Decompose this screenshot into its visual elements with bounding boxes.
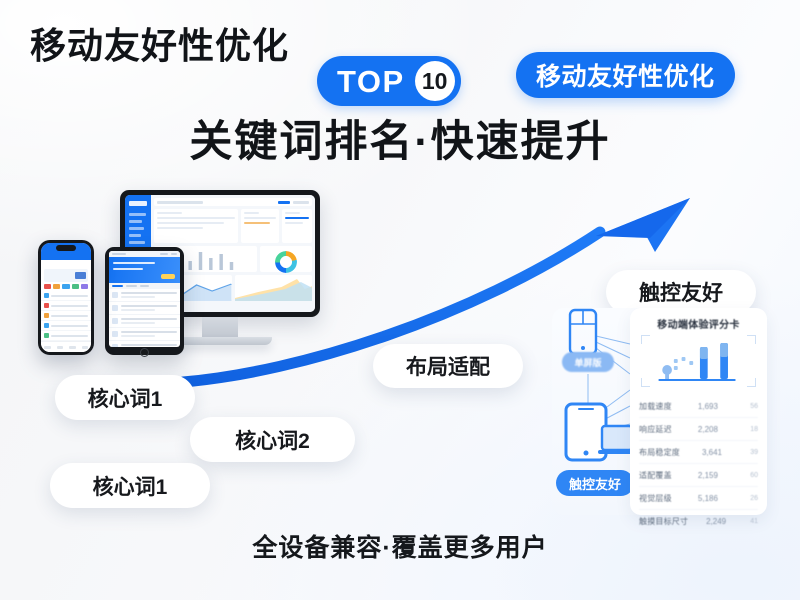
dashboard-nav-item	[129, 241, 145, 244]
table-row: 响应延迟 2,208 18	[639, 418, 758, 441]
dashboard-nav-item	[129, 234, 141, 237]
score-row-value: 1,693	[698, 402, 718, 411]
table-row: 视觉层级 5,186 26	[639, 487, 758, 510]
list-item	[109, 341, 180, 347]
tablet-screen	[109, 251, 180, 347]
phone-promo-card	[44, 269, 88, 282]
score-row-name: 视觉层级	[639, 493, 672, 504]
dashboard-donut-chart	[260, 246, 312, 272]
tablet-home-button[interactable]	[140, 348, 149, 357]
dashboard-nav-item	[129, 227, 144, 230]
list-item	[41, 291, 91, 301]
score-card-chart	[641, 335, 756, 387]
dashboard-breadcrumb	[157, 201, 203, 204]
tablet-hero-cta	[161, 274, 175, 279]
dashboard-card	[154, 209, 238, 243]
list-item	[109, 315, 180, 328]
score-row-list: 加载速度 1,693 56 响应延迟 2,208 18 布局稳定度 3,641 …	[639, 395, 758, 532]
diagram-label-split-screen: 单屏版	[562, 352, 614, 372]
chart-corner-mark	[747, 378, 756, 387]
footer-tagline: 全设备兼容·覆盖更多用户	[0, 528, 800, 564]
area-chart-svg	[235, 275, 313, 301]
search-input[interactable]	[44, 261, 88, 267]
score-row-name: 布局稳定度	[639, 447, 680, 458]
phone-screen	[41, 243, 91, 352]
monitor-neck	[202, 317, 238, 337]
small-phone-icon	[570, 310, 596, 354]
dashboard-logo	[129, 201, 147, 206]
dashboard-nav-item	[129, 220, 142, 223]
tablet-hero-banner	[109, 257, 180, 283]
list-item	[109, 302, 180, 315]
feature-pill-layout: 布局适配	[373, 344, 523, 388]
table-row: 加载速度 1,693 56	[639, 395, 758, 418]
score-row-name: 触摸目标尺寸	[639, 516, 688, 527]
table-row: 适配覆盖 2,159 60	[639, 464, 758, 487]
dashboard-topbar-action	[278, 201, 290, 204]
keyword-pill-2: 核心词2	[190, 417, 355, 462]
dashboard-card	[241, 209, 279, 243]
device-mockups	[20, 185, 320, 385]
score-row-value: 3,641	[702, 448, 722, 457]
keyword-pill-3: 核心词1	[50, 463, 210, 508]
score-row-delta: 26	[744, 495, 758, 502]
score-row-delta: 39	[744, 449, 758, 456]
score-row-name: 加载速度	[639, 401, 672, 412]
dashboard-card-row	[154, 209, 312, 243]
dashboard-area-chart	[235, 275, 313, 301]
score-row-value: 2,159	[698, 471, 718, 480]
score-row-name: 适配覆盖	[639, 470, 672, 481]
phone-mockup	[38, 240, 94, 355]
dashboard-nav-item	[129, 213, 146, 216]
phone-tabbar[interactable]	[41, 341, 91, 352]
score-row-value: 5,186	[698, 494, 718, 503]
score-row-delta: 56	[744, 403, 758, 410]
phone-quick-icons	[41, 282, 91, 291]
poster-canvas: 移动友好性优化 TOP 10 移动友好性优化 关键词排名·快速提升	[0, 0, 800, 600]
score-row-delta: 41	[744, 518, 758, 525]
phone-notch	[56, 245, 76, 251]
score-row-delta: 18	[744, 426, 758, 433]
chart-corner-mark	[641, 335, 650, 344]
score-row-value: 2,208	[698, 425, 718, 434]
score-card-title: 移动端体验评分卡	[639, 316, 758, 331]
donut-chart	[275, 251, 297, 273]
mobile-experience-panel: 单屏版 触控友好 移动端体验评分卡	[552, 300, 767, 515]
list-item	[109, 289, 180, 302]
tablet-bezel	[105, 247, 184, 355]
score-row-delta: 60	[744, 472, 758, 479]
tablet-mockup	[105, 247, 184, 355]
promo-thumbnail	[75, 272, 86, 279]
score-bar-chart	[641, 335, 756, 387]
chart-corner-mark	[641, 378, 650, 387]
list-item	[41, 301, 91, 311]
chart-corner-mark	[747, 335, 756, 344]
score-row-name: 响应延迟	[639, 424, 672, 435]
dashboard-topbar-action	[293, 201, 309, 204]
list-item	[41, 321, 91, 331]
mobile-score-card: 移动端体验评分卡	[630, 308, 767, 515]
diagram-label-touch-friendly: 触控友好	[556, 470, 634, 496]
list-item	[41, 311, 91, 321]
table-row: 布局稳定度 3,641 39	[639, 441, 758, 464]
score-row-value: 2,249	[706, 517, 726, 526]
list-item	[41, 331, 91, 341]
phone-bezel	[38, 240, 94, 355]
keyword-pill-1: 核心词1	[55, 375, 195, 420]
list-item	[109, 328, 180, 341]
dashboard-card	[282, 209, 312, 243]
dashboard-topbar	[154, 198, 312, 206]
